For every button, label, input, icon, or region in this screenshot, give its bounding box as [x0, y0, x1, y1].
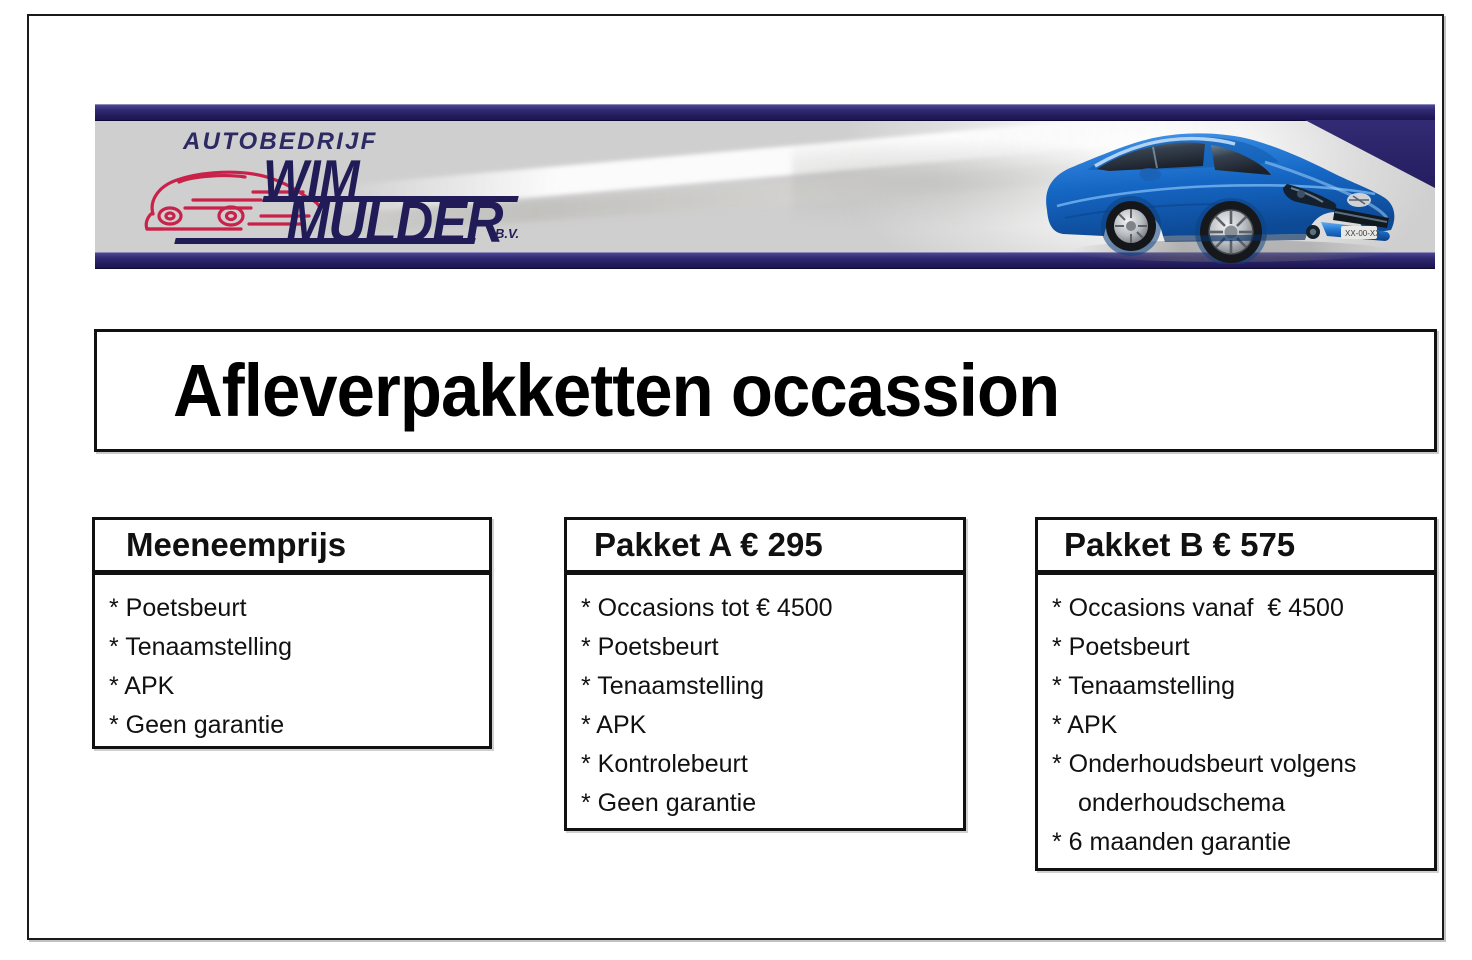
page-title-box: Afleverpakketten occassion [94, 329, 1437, 452]
package-header-box: Meeneemprijs [92, 517, 492, 573]
company-logo: AUTOBEDRIJF WIM MULDER B.V. [133, 130, 533, 246]
package-item: * APK [567, 706, 963, 745]
logo-bv-text: B.V. [495, 226, 519, 241]
package-item: * APK [1038, 706, 1434, 745]
package-item: * Geen garantie [95, 706, 489, 745]
package-item: * Poetsbeurt [95, 589, 489, 628]
package-header-label: Pakket A € 295 [594, 526, 823, 564]
package-column-meeneemprijs: Meeneemprijs * Poetsbeurt * Tenaamstelli… [92, 517, 492, 749]
package-body-box: * Poetsbeurt * Tenaamstelling * APK * Ge… [92, 573, 492, 749]
package-item: * Onderhoudsbeurt volgens [1038, 745, 1434, 784]
package-header-box: Pakket A € 295 [564, 517, 966, 573]
svg-text:XX-00-XX: XX-00-XX [1345, 229, 1381, 238]
package-body-box: * Occasions vanaf € 4500 * Poetsbeurt * … [1035, 573, 1437, 871]
package-item: * Tenaamstelling [95, 628, 489, 667]
package-header-box: Pakket B € 575 [1035, 517, 1437, 573]
package-item: * Tenaamstelling [1038, 667, 1434, 706]
page-frame: AUTOBEDRIJF WIM MULDER B.V. [27, 14, 1444, 940]
package-item: * Kontrolebeurt [567, 745, 963, 784]
package-item-continuation: onderhoudschema [1038, 784, 1434, 823]
package-header-label: Pakket B € 575 [1064, 526, 1295, 564]
package-item: * Occasions vanaf € 4500 [1038, 589, 1434, 628]
package-column-pakket-b: Pakket B € 575 * Occasions vanaf € 4500 … [1035, 517, 1437, 871]
package-item: * Poetsbeurt [1038, 628, 1434, 667]
package-item: * 6 maanden garantie [1038, 823, 1434, 862]
page-title: Afleverpakketten occassion [173, 354, 1059, 428]
package-item: * Tenaamstelling [567, 667, 963, 706]
package-item: * Geen garantie [567, 784, 963, 823]
package-item: * Occasions tot € 4500 [567, 589, 963, 628]
package-header-label: Meeneemprijs [126, 526, 346, 564]
package-column-pakket-a: Pakket A € 295 * Occasions tot € 4500 * … [564, 517, 966, 831]
package-item: * APK [95, 667, 489, 706]
car-photo-image: XX-00-XX [1035, 114, 1405, 264]
logo-underline-2 [174, 238, 475, 244]
package-body-box: * Occasions tot € 4500 * Poetsbeurt * Te… [564, 573, 966, 831]
company-banner: AUTOBEDRIJF WIM MULDER B.V. [95, 104, 1435, 269]
package-item: * Poetsbeurt [567, 628, 963, 667]
